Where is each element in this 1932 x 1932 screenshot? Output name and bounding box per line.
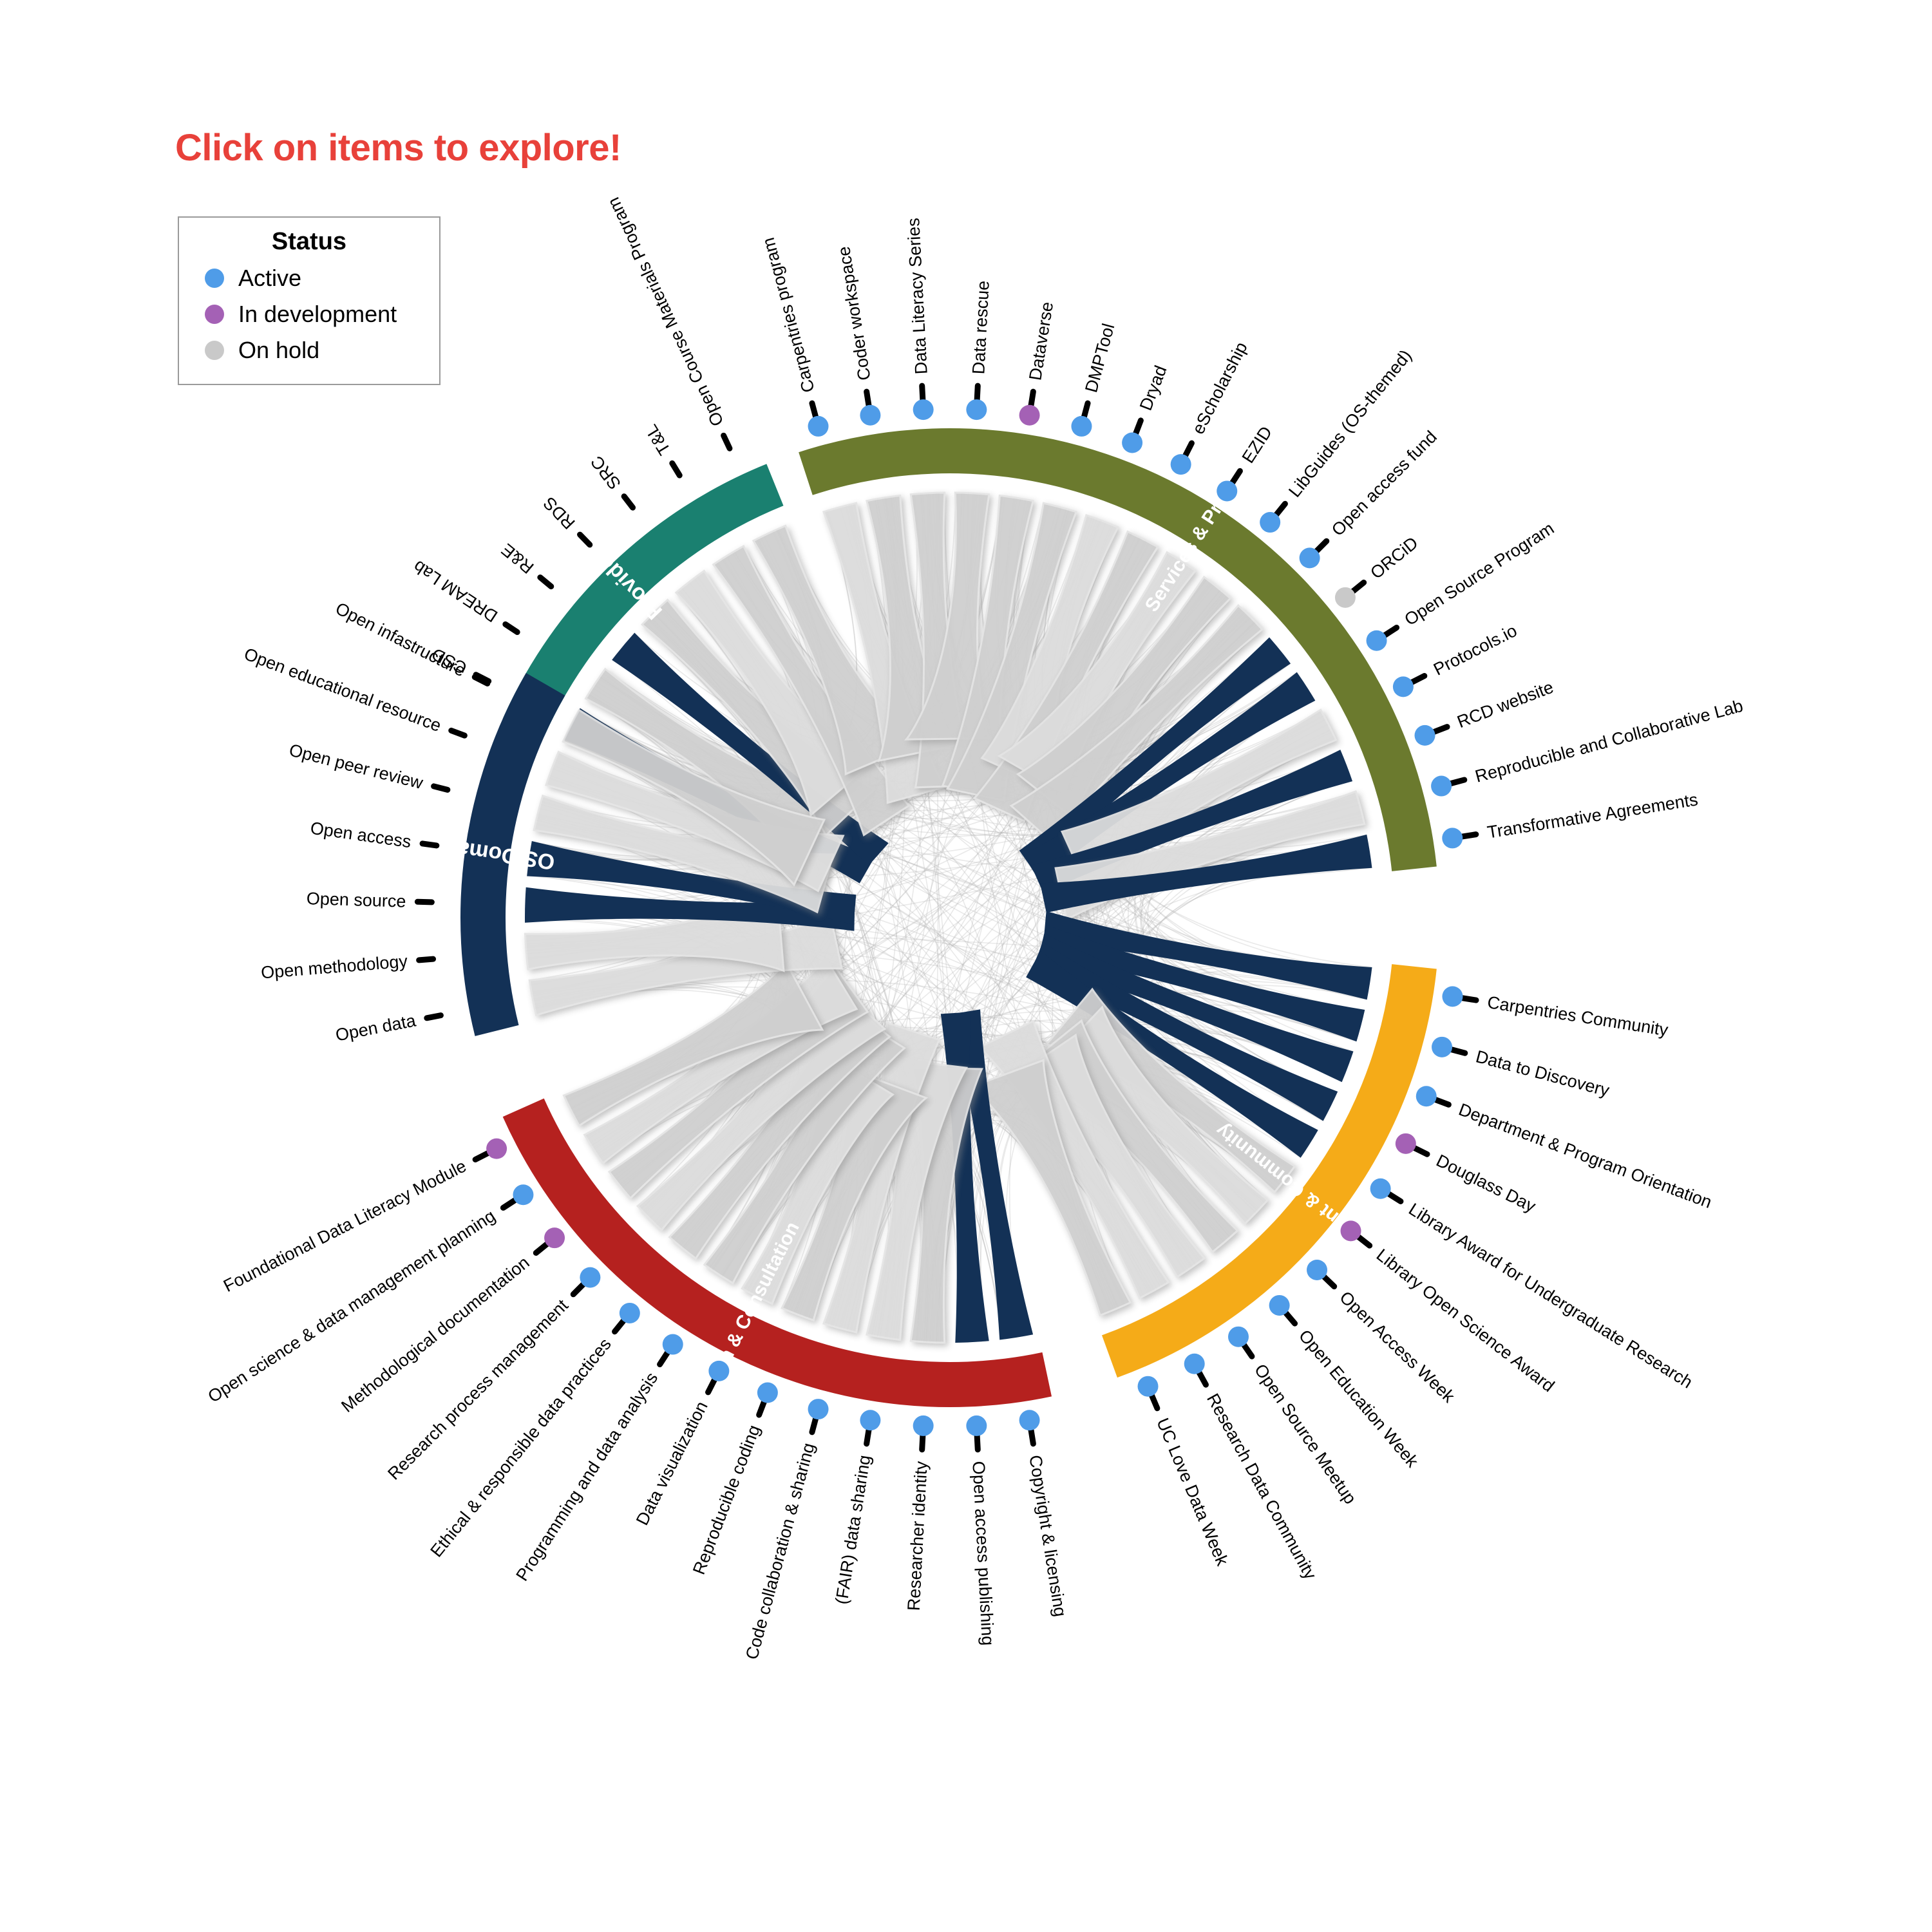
status-dot-active[interactable] — [808, 1399, 829, 1419]
item-tick — [1412, 676, 1425, 683]
item-label[interactable]: Reproducible coding — [689, 1423, 764, 1578]
item-tick — [1385, 628, 1396, 636]
item-tick — [419, 959, 433, 960]
item-tick — [1135, 421, 1141, 434]
item-label[interactable]: Open Course Materials Program — [603, 194, 727, 430]
item-tick — [1199, 1372, 1206, 1385]
item-label[interactable]: Data visualization — [632, 1398, 712, 1528]
status-dot-active[interactable] — [1138, 1376, 1159, 1397]
item-tick — [1285, 1312, 1294, 1323]
item-tick — [660, 1352, 668, 1364]
item-tick — [812, 1419, 816, 1432]
item-label[interactable]: Foundational Data Literacy Module — [220, 1156, 469, 1296]
status-dot-active[interactable] — [1228, 1327, 1249, 1347]
status-dot-active[interactable] — [1171, 454, 1191, 475]
item-label[interactable]: eScholarship — [1188, 339, 1251, 437]
item-tick — [759, 1402, 764, 1416]
item-label[interactable]: Carpentries program — [759, 236, 819, 395]
status-dot-active[interactable] — [1432, 1037, 1452, 1057]
status-dot-active[interactable] — [1184, 1354, 1205, 1374]
item-tick — [536, 1244, 547, 1253]
item-tick — [867, 392, 869, 406]
item-label[interactable]: Data to Discovery — [1473, 1046, 1611, 1100]
item-tick — [451, 730, 465, 735]
status-dot-in-development[interactable] — [1396, 1133, 1416, 1154]
status-dot-active[interactable] — [580, 1267, 600, 1288]
status-dot-active[interactable] — [913, 399, 934, 420]
item-label[interactable]: R&E — [498, 540, 538, 578]
item-label[interactable]: T&L — [641, 421, 674, 459]
item-tick — [724, 435, 730, 448]
item-label[interactable]: Data rescue — [969, 280, 993, 375]
status-dot-in-development[interactable] — [1019, 405, 1040, 426]
item-tick — [1388, 1194, 1401, 1202]
status-dot-active[interactable] — [1307, 1260, 1327, 1280]
item-tick — [1324, 1276, 1334, 1286]
item-tick — [434, 786, 448, 790]
item-tick — [1276, 504, 1285, 515]
item-label[interactable]: Ethical & responsible data practices — [426, 1334, 614, 1560]
item-tick — [812, 403, 816, 417]
item-label[interactable]: Dataverse — [1025, 301, 1057, 382]
item-label[interactable]: SRC — [587, 452, 625, 493]
status-dot-active[interactable] — [1367, 630, 1387, 651]
status-dot-active[interactable] — [1431, 776, 1452, 797]
item-label[interactable]: Open peer review — [287, 740, 425, 793]
item-label[interactable]: Open Source Program — [1401, 518, 1558, 629]
item-tick — [1462, 998, 1476, 1000]
status-dot-active[interactable] — [1269, 1295, 1290, 1316]
status-dot-active[interactable] — [1260, 512, 1280, 533]
item-label[interactable]: Research process management — [384, 1296, 572, 1484]
status-dot-active[interactable] — [620, 1303, 640, 1323]
status-dot-active[interactable] — [1416, 1086, 1437, 1106]
item-label[interactable]: Open access — [309, 819, 412, 852]
item-tick — [977, 1435, 978, 1450]
item-tick — [922, 386, 923, 400]
item-label[interactable]: Methodological documentation — [337, 1253, 533, 1416]
status-dot-active[interactable] — [1415, 725, 1435, 746]
status-dot-active[interactable] — [860, 1410, 880, 1430]
item-tick — [1031, 392, 1033, 406]
item-label[interactable]: Carpentries Community — [1486, 992, 1669, 1040]
status-dot-active[interactable] — [1071, 416, 1092, 437]
item-label[interactable]: Open infastructure — [332, 599, 469, 681]
item-tick — [573, 1284, 583, 1294]
item-label[interactable]: DREAM Lab — [410, 556, 501, 626]
status-dot-active[interactable] — [1217, 480, 1237, 501]
item-label[interactable]: Code collaboration & sharing — [742, 1441, 819, 1662]
item-label[interactable]: RDS — [540, 493, 579, 533]
status-dot-active[interactable] — [1122, 432, 1142, 453]
status-dot-active[interactable] — [1393, 676, 1414, 697]
item-tick — [475, 1153, 488, 1159]
item-tick — [1434, 727, 1448, 732]
item-tick — [1185, 443, 1191, 456]
status-dot-active[interactable] — [860, 405, 880, 426]
status-dot-active[interactable] — [913, 1416, 934, 1436]
item-tick — [1316, 541, 1327, 551]
status-dot-active[interactable] — [1442, 986, 1463, 1007]
item-tick — [503, 1200, 515, 1207]
item-tick — [1451, 780, 1464, 784]
item-tick — [506, 624, 517, 632]
item-label[interactable]: Researcher identity — [904, 1461, 931, 1611]
item-label[interactable]: Open educational resource — [241, 644, 444, 735]
item-tick — [977, 386, 978, 400]
item-label[interactable]: Coder workspace — [834, 245, 874, 382]
item-tick — [624, 497, 632, 507]
item-tick — [1414, 1148, 1427, 1154]
item-label[interactable]: Library Open Science Award — [1373, 1245, 1558, 1396]
item-tick — [1084, 403, 1088, 417]
item-label[interactable]: Transformative Agreements — [1486, 790, 1699, 842]
item-label[interactable]: UC Love Data Week — [1153, 1416, 1232, 1569]
status-dot-active[interactable] — [1370, 1179, 1391, 1199]
item-tick — [580, 535, 590, 545]
item-tick — [922, 1435, 923, 1450]
status-dot-active[interactable] — [513, 1184, 533, 1205]
status-dot-active[interactable] — [808, 416, 829, 437]
item-label[interactable]: Open methodology — [260, 951, 408, 982]
status-dot-active[interactable] — [663, 1334, 683, 1355]
item-tick — [422, 844, 437, 846]
item-label[interactable]: Douglass Day — [1433, 1151, 1539, 1217]
item-label[interactable]: Open source — [306, 889, 406, 911]
status-dot-active[interactable] — [708, 1361, 729, 1381]
item-label[interactable]: Protocols.io — [1430, 621, 1520, 679]
item-label[interactable]: Dryad — [1136, 363, 1171, 413]
status-dot-active[interactable] — [1019, 1410, 1040, 1430]
item-label[interactable]: RCD website — [1455, 677, 1557, 732]
status-dot-active[interactable] — [966, 1416, 987, 1436]
item-label[interactable]: Open access publishing — [969, 1461, 998, 1646]
item-tick — [1031, 1430, 1033, 1444]
status-dot-in-development[interactable] — [1341, 1220, 1361, 1241]
item-tick — [867, 1430, 869, 1444]
chord-diagram[interactable]: ProviderServices & ProgramsEngagement & … — [0, 0, 1932, 1932]
item-label[interactable]: (FAIR) data sharing — [831, 1454, 874, 1605]
item-label[interactable]: Data Literacy Series — [904, 218, 931, 375]
item-label[interactable]: Copyright & licensing — [1025, 1454, 1070, 1618]
item-tick — [1462, 835, 1476, 837]
status-dot-in-development[interactable] — [544, 1227, 565, 1248]
item-tick — [540, 578, 551, 587]
item-label[interactable]: DMPTool — [1081, 321, 1118, 395]
status-dot-active[interactable] — [1300, 547, 1320, 568]
item-label[interactable]: Programming and data analysis — [512, 1369, 661, 1585]
item-tick — [615, 1321, 624, 1332]
status-dot-active[interactable] — [1442, 828, 1463, 848]
item-tick — [427, 1016, 441, 1018]
item-tick — [1151, 1396, 1157, 1408]
status-dot-on-hold[interactable] — [1335, 587, 1356, 608]
item-tick — [417, 902, 431, 902]
item-label[interactable]: ORCiD — [1367, 533, 1421, 583]
status-dot-active[interactable] — [966, 399, 987, 420]
item-tick — [1244, 1345, 1251, 1356]
status-dot-in-development[interactable] — [486, 1139, 507, 1159]
item-tick — [1435, 1100, 1449, 1105]
item-tick — [1452, 1050, 1465, 1054]
item-tick — [672, 463, 679, 475]
status-dot-active[interactable] — [757, 1383, 778, 1403]
item-tick — [1353, 583, 1364, 592]
item-label[interactable]: Open data — [334, 1010, 417, 1045]
